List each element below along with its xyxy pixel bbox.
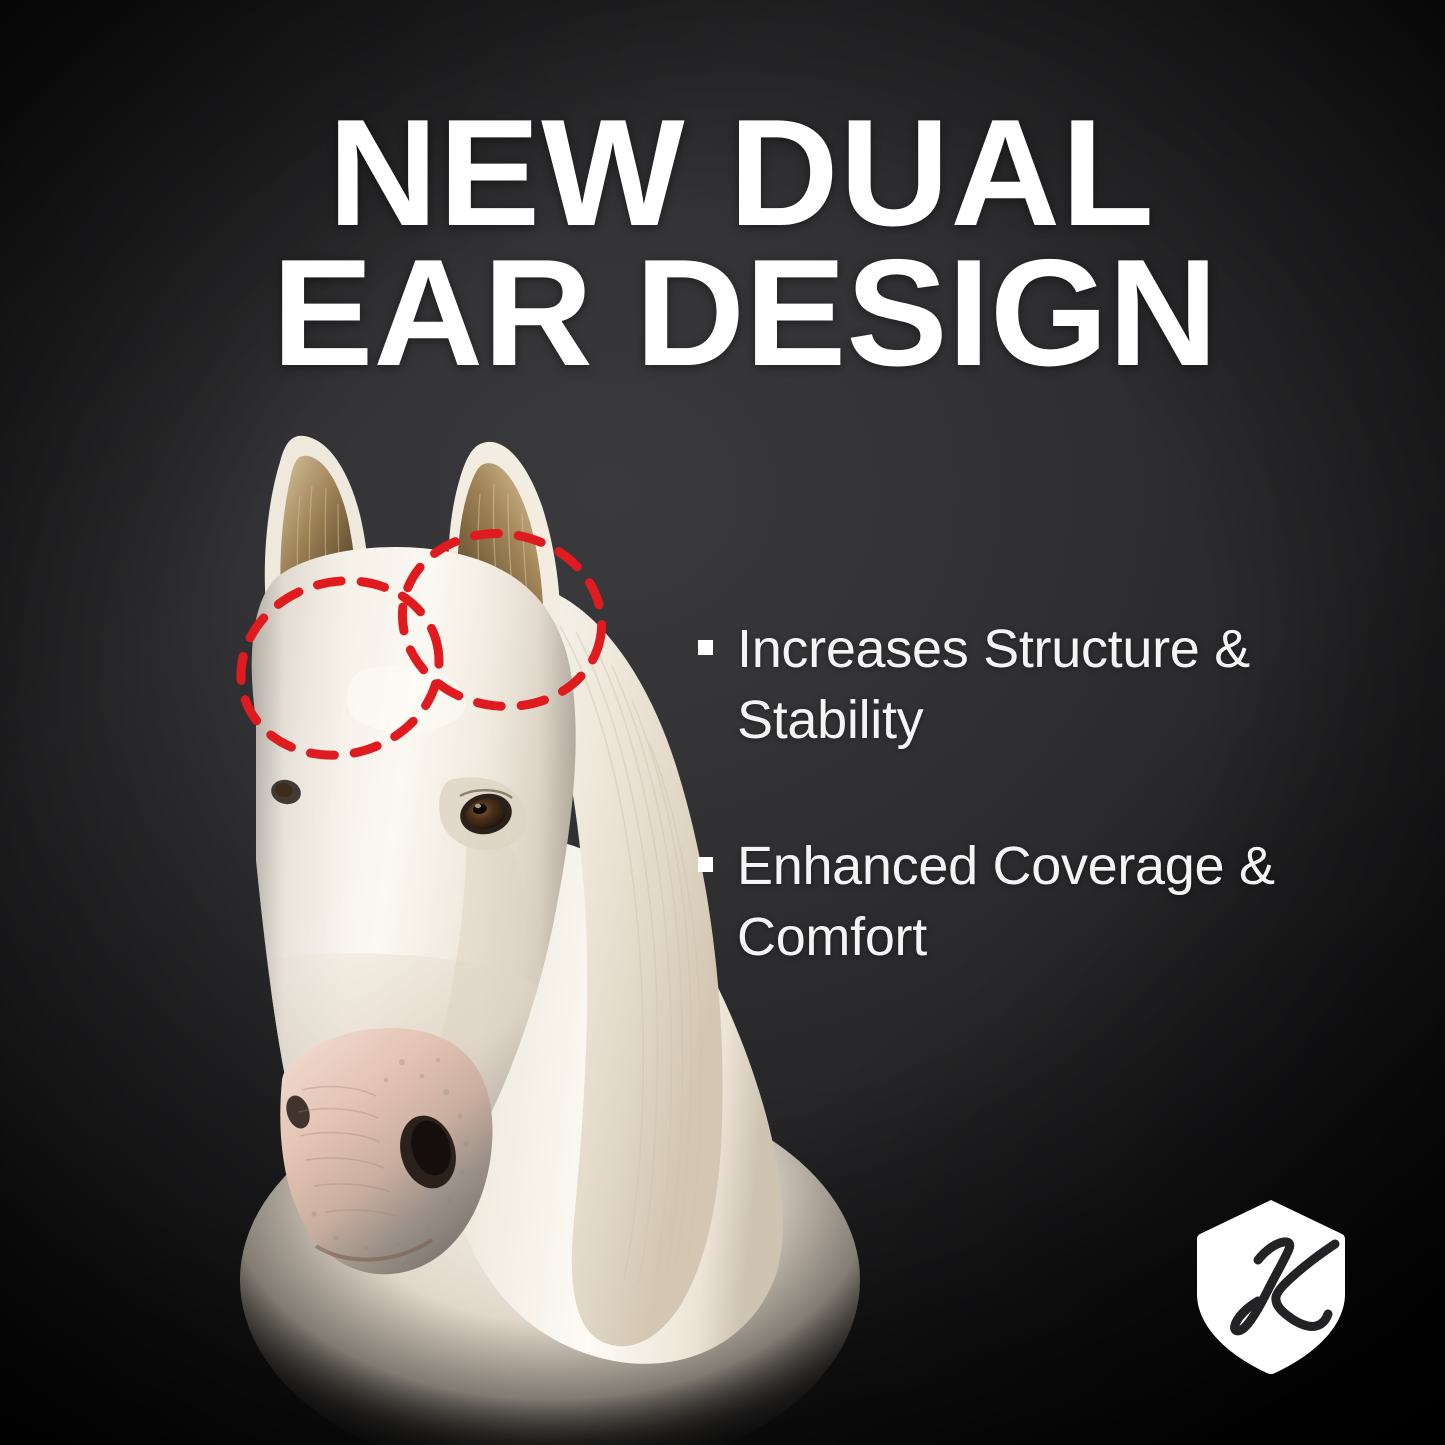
poster-canvas: NEW DUAL EAR DESIGN bbox=[0, 0, 1445, 1445]
feature-text: Enhanced Coverage & Comfort bbox=[737, 831, 1388, 974]
headline: NEW DUAL EAR DESIGN bbox=[266, 104, 1226, 384]
headline-line-1: NEW DUAL bbox=[266, 104, 1226, 244]
feature-text: Increases Structure & Stability bbox=[737, 614, 1388, 757]
list-item: Increases Structure & Stability bbox=[698, 614, 1388, 757]
shield-logo-icon bbox=[1196, 1198, 1346, 1376]
square-bullet-icon bbox=[698, 640, 713, 655]
headline-line-2: EAR DESIGN bbox=[266, 244, 1226, 384]
list-item: Enhanced Coverage & Comfort bbox=[698, 831, 1388, 974]
brand-logo bbox=[1196, 1198, 1346, 1376]
feature-list: Increases Structure & Stability Enhanced… bbox=[698, 614, 1388, 1047]
square-bullet-icon bbox=[698, 857, 713, 872]
